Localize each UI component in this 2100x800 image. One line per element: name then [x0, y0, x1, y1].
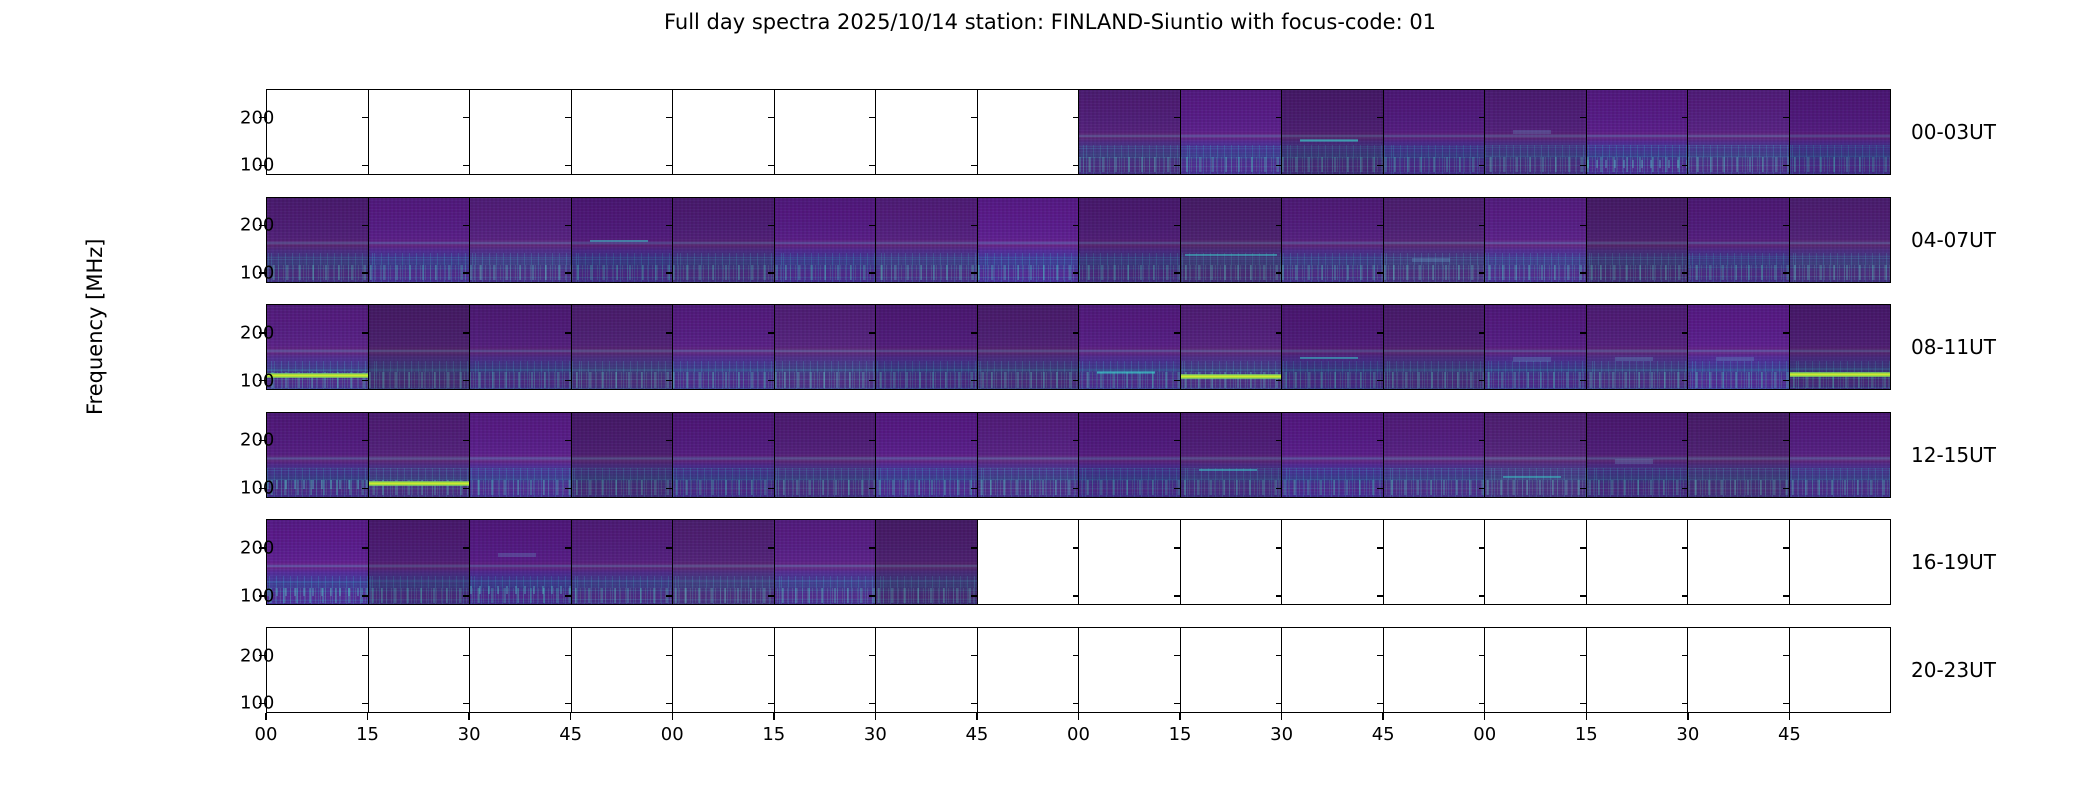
x-tick [875, 713, 876, 720]
y-tick-inner [666, 488, 672, 489]
x-tick [773, 713, 774, 720]
y-tick-inner [768, 595, 774, 596]
y-tick-inner [1276, 440, 1282, 441]
spectrogram-image [1384, 305, 1485, 389]
spec-layer-speckle2 [1282, 157, 1383, 172]
y-tick-inner [1073, 655, 1079, 656]
row-axes[interactable] [266, 627, 1891, 713]
y-tick-inner [1682, 440, 1688, 441]
spectrogram-cell [369, 413, 471, 497]
spec-layer-speckle2 [1079, 372, 1180, 387]
y-tick-inner [362, 117, 368, 118]
y-tick-inner [1174, 225, 1180, 226]
spectrogram-cell [775, 413, 877, 497]
spectrogram-image [1485, 198, 1586, 282]
spectrogram-image [1587, 198, 1688, 282]
faint-band [1615, 459, 1653, 463]
y-tick-inner [362, 547, 368, 548]
y-tick-inner [1479, 332, 1485, 333]
y-tick-inner [565, 440, 571, 441]
rfi-speckle [470, 586, 571, 594]
y-tick-inner [1682, 332, 1688, 333]
y-tick-label: 100 [240, 478, 248, 499]
spectrogram-cell-empty [775, 90, 877, 174]
spec-layer-midband [876, 564, 977, 568]
y-tick-inner [1479, 117, 1485, 118]
row-axes[interactable] [266, 197, 1891, 283]
y-tick-inner [362, 595, 368, 596]
y-tick-inner [1174, 272, 1180, 273]
spectrogram-cell [1282, 413, 1384, 497]
spectrogram-image [572, 520, 673, 604]
y-tick-inner [463, 488, 469, 489]
spectrogram-image [1079, 198, 1180, 282]
spectrogram-image [369, 520, 470, 604]
y-tick-inner [1377, 225, 1383, 226]
y-tick-inner [666, 380, 672, 381]
x-tick [1687, 713, 1688, 720]
spec-layer-speckle2 [470, 480, 571, 495]
y-tick-inner [768, 440, 774, 441]
y-tick-inner [1174, 595, 1180, 596]
y-tick-inner [463, 117, 469, 118]
spectrogram-cell [876, 305, 978, 389]
row-axes[interactable] [266, 519, 1891, 605]
spectrogram-image [1282, 198, 1383, 282]
spec-layer-midband [572, 564, 673, 568]
y-tick-inner [1174, 655, 1180, 656]
y-tick-inner [869, 440, 875, 441]
x-tick-label: 15 [762, 724, 785, 745]
spectrogram-cell-empty [1587, 520, 1689, 604]
y-tick-inner [666, 655, 672, 656]
y-tick-inner [971, 332, 977, 333]
spec-layer-speckle2 [876, 265, 977, 280]
spec-layer-speckle2 [673, 588, 774, 603]
spectrogram-image [1079, 305, 1180, 389]
y-tick-inner [971, 272, 977, 273]
spec-layer-speckle2 [572, 480, 673, 495]
spectrogram-image [673, 198, 774, 282]
spec-layer-midband [775, 349, 876, 353]
cyan-line [1199, 469, 1257, 472]
row-axes[interactable] [266, 89, 1891, 175]
y-tick-inner [1276, 703, 1282, 704]
spectrogram-image [775, 520, 876, 604]
y-tick-inner [565, 272, 571, 273]
spectrogram-row: 20010020-23UT [266, 627, 1891, 713]
y-tick-inner [768, 332, 774, 333]
spec-layer-midband [369, 349, 470, 353]
y-tick-inner [463, 440, 469, 441]
y-tick-inner [768, 547, 774, 548]
spec-layer-speckle2 [673, 265, 774, 280]
spectrogram-cell [572, 305, 674, 389]
spectrogram-grid: 20010000-03UT20010004-07UT20010008-11UT2… [266, 89, 1891, 713]
spec-layer-midband [1485, 241, 1586, 245]
spectrogram-cell [1282, 90, 1384, 174]
row-axes[interactable] [266, 412, 1891, 498]
spec-layer-midband [978, 349, 1079, 353]
y-tick-inner [1682, 380, 1688, 381]
y-tick-inner [1073, 595, 1079, 596]
spectrogram-cell [978, 198, 1080, 282]
y-tick-inner [971, 547, 977, 548]
spectrogram-image [876, 413, 977, 497]
spectrogram-cell [1587, 90, 1689, 174]
spectrogram-cell [978, 413, 1080, 497]
y-tick-inner [666, 703, 672, 704]
spec-layer-midband [470, 564, 571, 568]
spec-layer-midband [267, 456, 368, 460]
spectrogram-cell [572, 198, 674, 282]
spec-layer-midband [1688, 241, 1789, 245]
faint-band [1716, 357, 1754, 361]
y-tick-inner [1276, 272, 1282, 273]
row-axes[interactable] [266, 304, 1891, 390]
y-tick-inner [362, 703, 368, 704]
spectrogram-cell [673, 413, 775, 497]
spec-layer-midband [673, 349, 774, 353]
spec-layer-midband [1181, 456, 1282, 460]
y-tick-inner [1174, 547, 1180, 548]
spec-layer-speckle2 [1485, 372, 1586, 387]
spec-layer-speckle2 [1384, 372, 1485, 387]
spectrogram-image [1688, 413, 1789, 497]
y-tick-inner [463, 595, 469, 596]
y-tick-inner [768, 655, 774, 656]
spec-layer-speckle2 [978, 265, 1079, 280]
spectrogram-image [1485, 413, 1586, 497]
spectrogram-cell [1181, 198, 1283, 282]
spec-layer-midband [369, 241, 470, 245]
spectrogram-cell-empty [978, 520, 1080, 604]
spectrogram-image [876, 520, 977, 604]
y-tick-inner [565, 117, 571, 118]
cyan-line [1185, 254, 1277, 257]
spec-layer-midband [470, 241, 571, 245]
y-tick-inner [1580, 655, 1586, 656]
spectrogram-cell-empty [1079, 520, 1181, 604]
spec-layer-midband [1181, 241, 1282, 245]
spectrogram-cell [673, 305, 775, 389]
y-tick-inner [869, 595, 875, 596]
spectrogram-cell-empty [1282, 628, 1384, 712]
y-tick-inner [869, 165, 875, 166]
emission-bar [1181, 374, 1282, 379]
y-tick-inner [1276, 380, 1282, 381]
spec-layer-speckle2 [1282, 372, 1383, 387]
y-tick-inner [666, 272, 672, 273]
y-tick-inner [565, 225, 571, 226]
x-tick [1484, 713, 1485, 720]
page-title: Full day spectra 2025/10/14 station: FIN… [0, 10, 2100, 34]
spec-layer-speckle2 [1485, 157, 1586, 172]
spec-layer-midband [1282, 349, 1383, 353]
spectrogram-image [1790, 198, 1891, 282]
spectrogram-cell [1181, 305, 1283, 389]
y-tick-inner [1276, 595, 1282, 596]
spectrogram-cell-empty [1384, 520, 1486, 604]
spectrogram-cell [775, 198, 877, 282]
faint-band [1513, 130, 1551, 134]
row-label: 16-19UT [1911, 550, 1996, 574]
spectrogram-cell-empty [1079, 628, 1181, 712]
y-tick-inner [971, 440, 977, 441]
y-tick-label: 200 [240, 107, 248, 128]
y-tick-inner [1580, 547, 1586, 548]
emission-bar [369, 481, 470, 486]
y-tick-inner [1276, 547, 1282, 548]
y-tick-inner [1377, 655, 1383, 656]
spec-layer-speckle2 [1688, 157, 1789, 172]
spec-layer-midband [876, 456, 977, 460]
spectrogram-image [1688, 305, 1789, 389]
spectrogram-cell [572, 413, 674, 497]
x-tick-label: 00 [1473, 724, 1496, 745]
spec-layer-midband [1282, 134, 1383, 138]
spec-layer-speckle2 [572, 265, 673, 280]
y-tick-inner [1479, 547, 1485, 548]
spectrogram-image [470, 198, 571, 282]
spectrogram-cell [1485, 413, 1587, 497]
y-tick-inner [1073, 547, 1079, 548]
spec-layer-midband [775, 241, 876, 245]
y-tick-label: 200 [240, 645, 248, 666]
y-tick-inner [666, 332, 672, 333]
spec-layer-speckle2 [1079, 157, 1180, 172]
y-tick-inner [565, 488, 571, 489]
spec-layer-midband [1079, 456, 1180, 460]
y-tick-inner [1479, 225, 1485, 226]
x-tick-label: 45 [965, 724, 988, 745]
spec-layer-midband [470, 349, 571, 353]
y-tick-inner [463, 547, 469, 548]
spec-layer-midband [572, 456, 673, 460]
spectrogram-cell [267, 305, 369, 389]
spectrogram-cell [369, 520, 471, 604]
spec-layer-speckle2 [1282, 480, 1383, 495]
spec-layer-midband [775, 456, 876, 460]
spectrogram-cell-empty [1384, 628, 1486, 712]
spectrogram-cell [775, 520, 877, 604]
y-tick-inner [666, 547, 672, 548]
spectrogram-cell [1688, 305, 1790, 389]
y-tick-inner [666, 225, 672, 226]
spectrogram-cell [1384, 413, 1486, 497]
y-tick-inner [1276, 117, 1282, 118]
y-tick-inner [1479, 655, 1485, 656]
spec-layer-midband [1790, 241, 1891, 245]
y-tick-inner [869, 332, 875, 333]
spec-layer-speckle2 [1485, 265, 1586, 280]
spectrogram-cell-empty [1181, 520, 1283, 604]
spec-layer-speckle2 [876, 588, 977, 603]
cyan-line [1503, 476, 1561, 479]
y-tick-inner [1174, 440, 1180, 441]
y-tick-inner [1377, 117, 1383, 118]
spectrogram-cell-empty [1485, 628, 1587, 712]
y-tick-inner [1479, 440, 1485, 441]
spectrogram-image [775, 305, 876, 389]
spectrogram-cell-empty [369, 90, 471, 174]
y-tick-inner [1377, 488, 1383, 489]
spectrogram-cell [1079, 90, 1181, 174]
spectrogram-cell [267, 520, 369, 604]
spectrogram-cell [673, 520, 775, 604]
y-tick-label: 200 [240, 215, 248, 236]
spec-layer-midband [1181, 134, 1282, 138]
y-tick-inner [362, 488, 368, 489]
spec-layer-speckle2 [1485, 480, 1586, 495]
spectrogram-cell [978, 305, 1080, 389]
y-tick-inner [1073, 380, 1079, 381]
spectrogram-cell-empty [876, 628, 978, 712]
spectrogram-cell [1587, 413, 1689, 497]
y-tick-inner [869, 225, 875, 226]
spectrogram-cell [1485, 305, 1587, 389]
spec-layer-speckle2 [1384, 157, 1485, 172]
y-tick-inner [1377, 332, 1383, 333]
faint-band [1412, 258, 1450, 262]
spec-layer-midband [1384, 456, 1485, 460]
spectrogram-cell [267, 198, 369, 282]
y-tick-inner [971, 488, 977, 489]
spectrogram-image [876, 198, 977, 282]
spec-layer-midband [1587, 241, 1688, 245]
spec-layer-midband [1079, 134, 1180, 138]
spec-layer-midband [1790, 456, 1891, 460]
spec-layer-speckle2 [369, 265, 470, 280]
spec-layer-midband [1079, 349, 1180, 353]
spectrogram-cell [470, 520, 572, 604]
spectrogram-image [1587, 413, 1688, 497]
y-tick-label: 100 [240, 693, 248, 714]
spectrogram-cell-empty [1587, 628, 1689, 712]
y-tick-inner [1580, 488, 1586, 489]
spectrogram-cell-empty [978, 628, 1080, 712]
spec-layer-speckle2 [1181, 157, 1282, 172]
spec-layer-midband [1790, 134, 1891, 138]
y-tick-inner [1174, 380, 1180, 381]
rfi-speckle [267, 588, 368, 596]
y-tick-inner [1377, 547, 1383, 548]
emission-bar [1790, 372, 1891, 376]
spectrogram-cell [1485, 90, 1587, 174]
y-tick-inner [1682, 117, 1688, 118]
y-tick-label: 100 [240, 263, 248, 284]
y-tick-inner [1783, 380, 1789, 381]
y-tick-inner [1682, 225, 1688, 226]
x-tick [976, 713, 977, 720]
spec-layer-midband [1688, 134, 1789, 138]
spec-layer-midband [1485, 456, 1586, 460]
spectrogram-row: 20010012-15UT [266, 412, 1891, 498]
spectrogram-image [876, 305, 977, 389]
y-tick-inner [1783, 117, 1789, 118]
y-tick-inner [1580, 332, 1586, 333]
spectrogram-image [1282, 305, 1383, 389]
y-tick-inner [463, 225, 469, 226]
spectrogram-image [1079, 413, 1180, 497]
spec-layer-midband [876, 349, 977, 353]
spectrogram-cell [1688, 198, 1790, 282]
spec-layer-midband [369, 456, 470, 460]
y-tick-inner [971, 117, 977, 118]
spec-layer-midband [267, 564, 368, 568]
spectrogram-cell [1181, 413, 1283, 497]
emission-bar [267, 373, 368, 378]
spectrogram-cell [1384, 305, 1486, 389]
faint-band [498, 553, 536, 557]
spectrogram-cell [470, 198, 572, 282]
y-tick-inner [869, 547, 875, 548]
y-tick-inner [666, 595, 672, 596]
spec-layer-midband [470, 456, 571, 460]
x-tick-label: 30 [458, 724, 481, 745]
spectrogram-cell [1282, 198, 1384, 282]
spectrogram-image [470, 305, 571, 389]
y-tick-label: 100 [240, 585, 248, 606]
spectrogram-cell-empty [1790, 628, 1891, 712]
spec-layer-speckle2 [572, 588, 673, 603]
spec-layer-speckle2 [1181, 480, 1282, 495]
spec-layer-midband [1384, 134, 1485, 138]
y-tick-inner [768, 225, 774, 226]
spec-layer-midband [1688, 456, 1789, 460]
y-axis-label: Frequency [MHz] [83, 385, 107, 415]
y-tick-label: 200 [240, 322, 248, 343]
row-label: 12-15UT [1911, 443, 1996, 467]
y-tick-inner [1073, 272, 1079, 273]
x-tick-label: 15 [356, 724, 379, 745]
spectrogram-cell [1181, 90, 1283, 174]
y-tick-label: 100 [240, 155, 248, 176]
spectrogram-cell [775, 305, 877, 389]
x-tick [265, 713, 266, 720]
spec-layer-speckle2 [572, 372, 673, 387]
y-tick-inner [869, 655, 875, 656]
y-tick-inner [463, 380, 469, 381]
y-tick-inner [463, 272, 469, 273]
spectrogram-cell [1079, 305, 1181, 389]
spec-layer-midband [267, 349, 368, 353]
x-tick-label: 30 [864, 724, 887, 745]
y-tick-inner [869, 380, 875, 381]
x-tick-label: 45 [1778, 724, 1801, 745]
spectrogram-cell-empty [267, 628, 369, 712]
spectrogram-cell [470, 305, 572, 389]
y-tick-inner [1682, 703, 1688, 704]
x-tick [367, 713, 368, 720]
spectrogram-image [1688, 198, 1789, 282]
spec-layer-speckle2 [1790, 265, 1891, 280]
spec-layer-speckle2 [673, 372, 774, 387]
y-tick-inner [768, 488, 774, 489]
spec-layer-midband [1384, 241, 1485, 245]
spectrogram-cell-empty [673, 90, 775, 174]
spec-layer-speckle2 [1384, 265, 1485, 280]
y-tick-inner [1783, 225, 1789, 226]
spec-layer-speckle2 [1384, 480, 1485, 495]
y-tick-inner [1377, 595, 1383, 596]
y-tick-inner [1479, 595, 1485, 596]
spectrogram-cell [1384, 198, 1486, 282]
spectrogram-cell-empty [1688, 520, 1790, 604]
spec-layer-midband [1485, 349, 1586, 353]
y-tick-inner [768, 272, 774, 273]
spectrogram-cell [369, 198, 471, 282]
